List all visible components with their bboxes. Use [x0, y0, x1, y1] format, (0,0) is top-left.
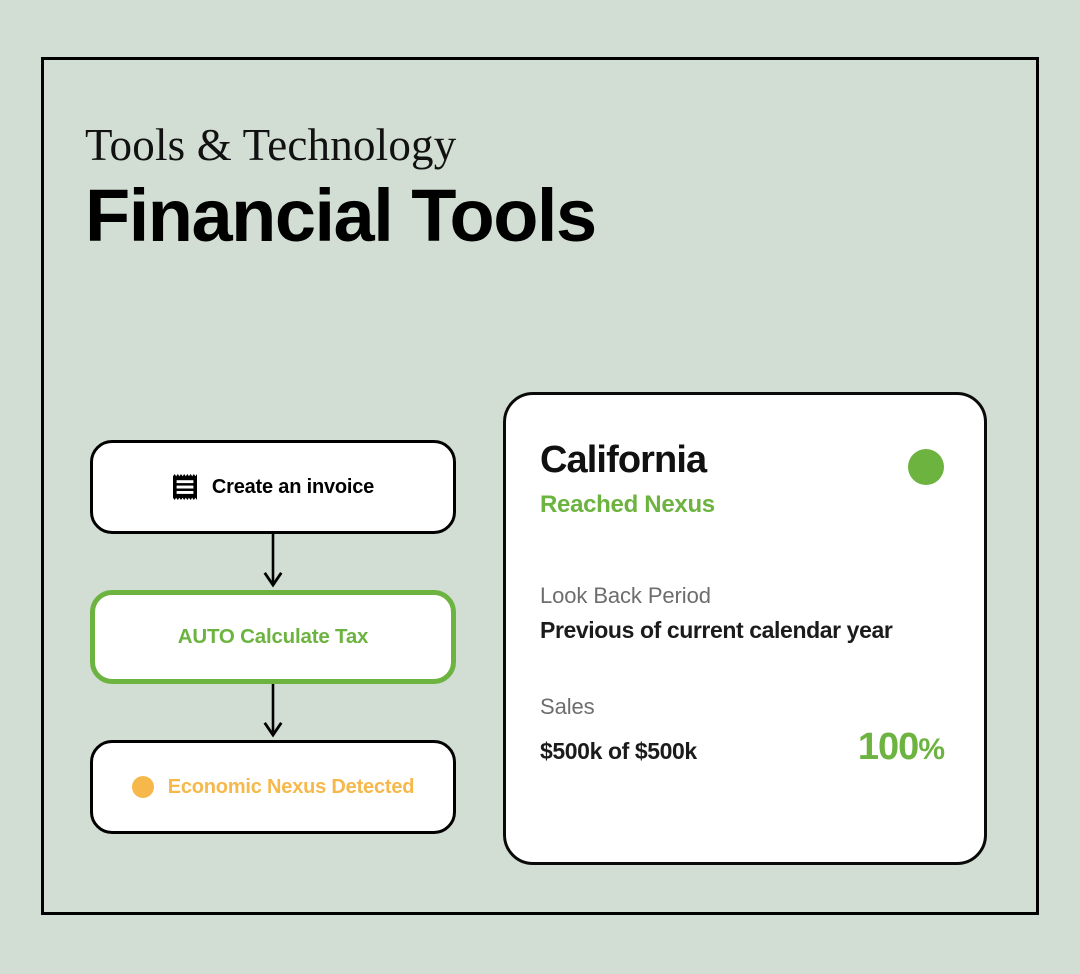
header-block: Tools & Technology Financial Tools — [85, 120, 785, 256]
percent-symbol: % — [918, 733, 944, 766]
receipt-icon — [172, 473, 198, 501]
arrow-down-icon — [90, 684, 456, 740]
flow-step-label: AUTO Calculate Tax — [178, 625, 368, 649]
card-header: California Reached Nexus — [540, 441, 944, 519]
field-value: Previous of current calendar year — [540, 617, 944, 644]
page-title: Financial Tools — [85, 176, 785, 256]
field-label: Sales — [540, 694, 944, 720]
field-sales: Sales $500k of $500k 100% — [540, 694, 944, 766]
eyebrow-text: Tools & Technology — [85, 120, 785, 170]
amber-dot-icon — [132, 776, 154, 798]
flow-step-content: Create an invoice — [172, 473, 374, 501]
flow-step-label: Economic Nexus Detected — [168, 776, 415, 799]
sales-percent: 100% — [858, 728, 944, 766]
state-name: California — [540, 441, 715, 481]
card-header-text: California Reached Nexus — [540, 441, 715, 519]
flow-diagram: Create an invoice AUTO Calculate Tax — [90, 440, 456, 834]
flow-step-economic-nexus-detected[interactable]: Economic Nexus Detected — [90, 740, 456, 834]
field-label: Look Back Period — [540, 583, 944, 609]
field-look-back-period: Look Back Period Previous of current cal… — [540, 583, 944, 644]
flow-step-auto-calculate-tax[interactable]: AUTO Calculate Tax — [90, 590, 456, 684]
sales-percent-number: 100 — [858, 726, 918, 768]
flow-step-content: AUTO Calculate Tax — [178, 625, 368, 649]
flow-step-create-invoice[interactable]: Create an invoice — [90, 440, 456, 534]
poster-canvas: Tools & Technology Financial Tools Creat… — [0, 0, 1080, 974]
nexus-status-card[interactable]: California Reached Nexus Look Back Perio… — [503, 392, 987, 865]
sales-amount: $500k of $500k — [540, 738, 697, 765]
sales-row: $500k of $500k 100% — [540, 728, 944, 766]
arrow-down-icon — [90, 534, 456, 590]
nexus-status-text: Reached Nexus — [540, 491, 715, 519]
status-indicator-dot-icon — [908, 449, 944, 485]
flow-step-label: Create an invoice — [212, 476, 374, 499]
flow-step-content: Economic Nexus Detected — [132, 776, 415, 799]
